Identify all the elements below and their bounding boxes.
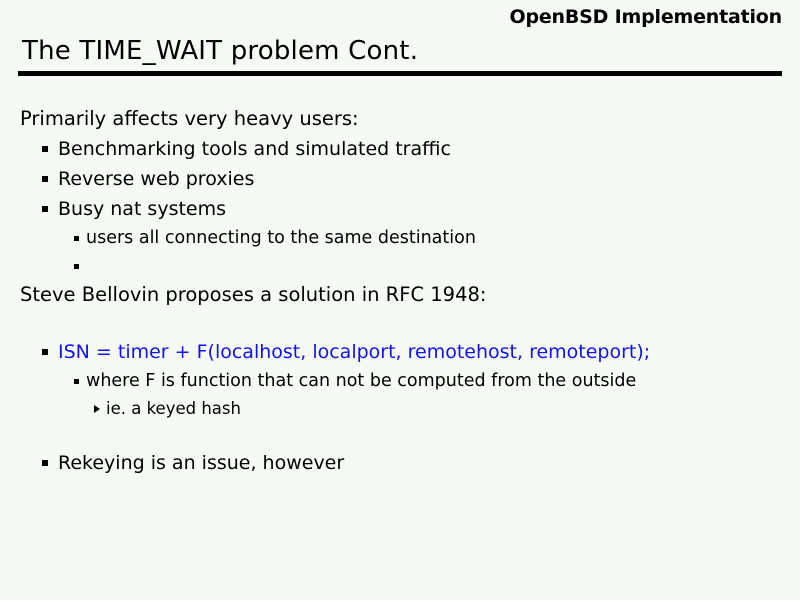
bullet-label: ie. a keyed hash — [106, 399, 241, 418]
bullet-item: ie. a keyed hash — [0, 395, 800, 422]
bullet-item-empty — [0, 252, 800, 280]
dot-bullet-icon — [74, 379, 79, 384]
bullet-label: Benchmarking tools and simulated traffic — [58, 138, 451, 160]
bullet-item: Rekeying is an issue, however — [0, 448, 800, 478]
bullet-label-highlighted: ISN = timer + F(localhost, localport, re… — [58, 341, 650, 363]
slide-canvas: OpenBSD Implementation The TIME_WAIT pro… — [0, 0, 800, 600]
bullet-label: users all connecting to the same destina… — [86, 228, 476, 248]
bullet-label: Reverse web proxies — [58, 168, 254, 190]
bullet-item: Busy nat systems — [0, 194, 800, 224]
square-bullet-icon — [42, 206, 48, 212]
square-bullet-icon — [42, 176, 48, 182]
square-bullet-icon — [42, 460, 48, 466]
bullet-label: Rekeying is an issue, however — [58, 452, 344, 474]
bullet-item: where F is function that can not be comp… — [0, 367, 800, 395]
slide-header-text: OpenBSD Implementation — [0, 6, 782, 28]
bullet-item: ISN = timer + F(localhost, localport, re… — [0, 337, 800, 367]
vertical-gap — [0, 422, 800, 448]
bullet-label: Busy nat systems — [58, 198, 226, 220]
slide-body: Primarily affects very heavy users: Benc… — [0, 104, 800, 478]
bullet-item: users all connecting to the same destina… — [0, 224, 800, 252]
bullet-label: where F is function that can not be comp… — [86, 371, 636, 391]
square-bullet-icon — [42, 146, 48, 152]
vertical-gap — [0, 310, 800, 337]
square-bullet-icon — [42, 349, 48, 355]
triangle-bullet-icon — [94, 405, 100, 413]
dot-bullet-icon — [74, 264, 79, 269]
body-line: Steve Bellovin proposes a solution in RF… — [0, 280, 800, 310]
body-line: Primarily affects very heavy users: — [0, 104, 800, 134]
bullet-item: Benchmarking tools and simulated traffic — [0, 134, 800, 164]
bullet-item: Reverse web proxies — [0, 164, 800, 194]
dot-bullet-icon — [74, 236, 79, 241]
slide-title: The TIME_WAIT problem Cont. — [22, 36, 418, 66]
title-underline-rule — [18, 71, 782, 76]
